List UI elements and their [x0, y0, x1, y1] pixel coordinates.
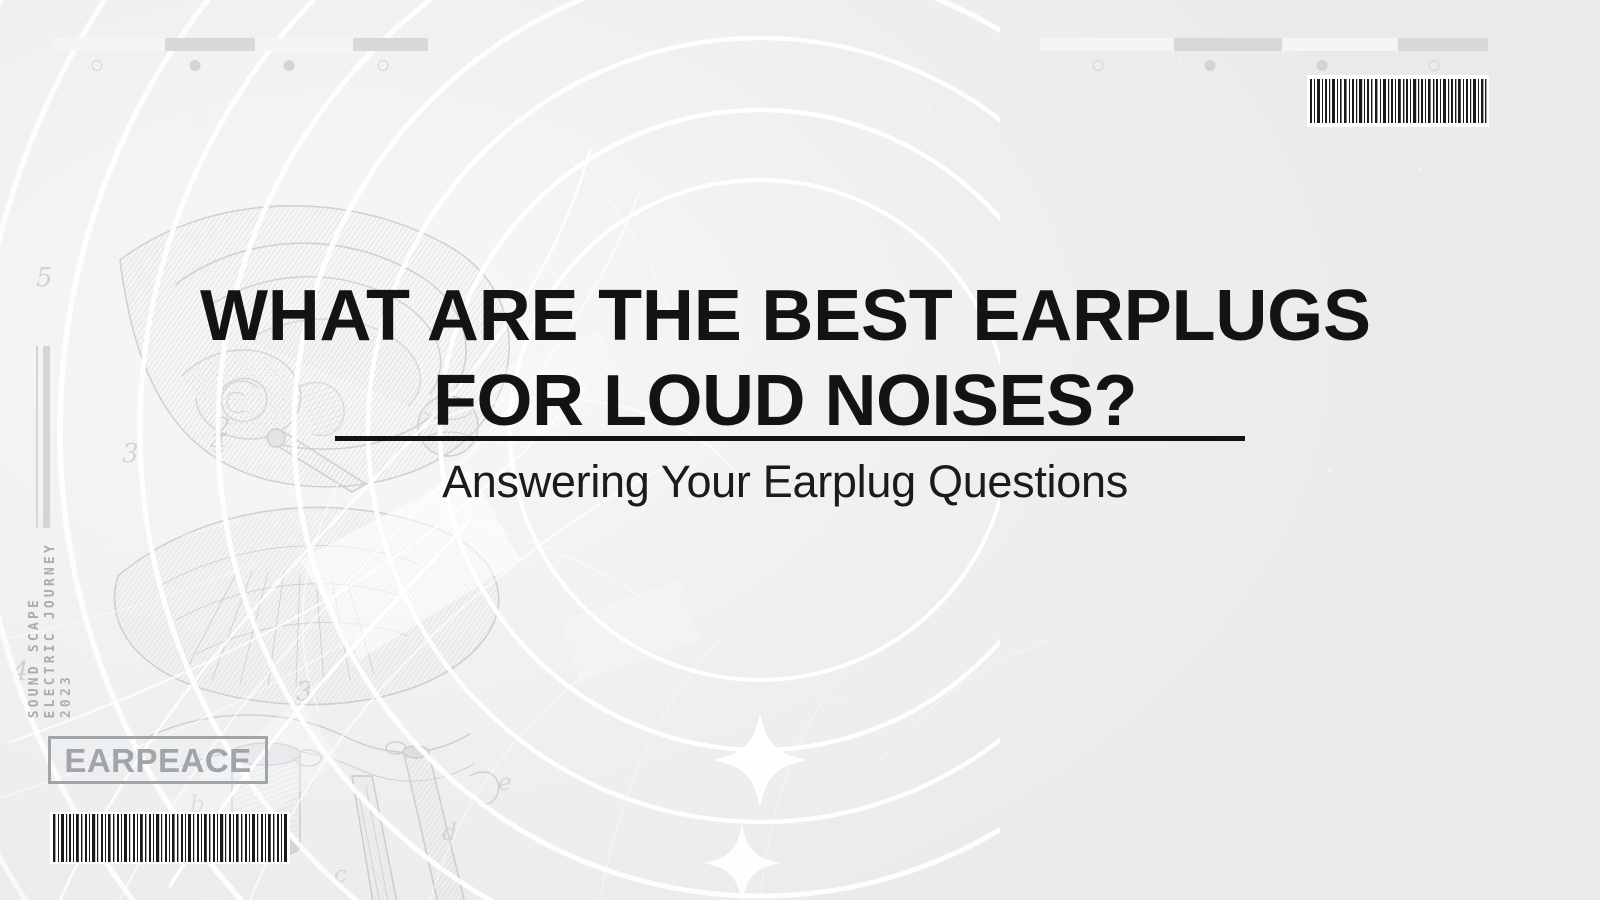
segbar-segment — [165, 38, 255, 51]
progress-bar-left — [52, 38, 428, 82]
page-title-line-1: WHAT ARE THE BEST EARPLUGS — [200, 282, 1370, 351]
segbar-dots-left — [52, 60, 428, 82]
vertical-label-group: SOUND SCAPE ELECTRIC JOURNEY 2023 — [28, 542, 73, 718]
vertical-label-electric-journey: ELECTRIC JOURNEY — [44, 542, 57, 718]
step-dot — [1093, 60, 1104, 71]
step-dot — [189, 60, 200, 71]
segbar-segment — [52, 38, 165, 51]
engraving-label-4b: 4 — [11, 657, 29, 687]
segbar-segment — [1040, 38, 1174, 51]
engraving-label-e: e — [498, 770, 512, 796]
engraving-label-c: c — [334, 862, 347, 888]
segbar-segment — [255, 38, 353, 51]
title-divider — [335, 436, 1245, 441]
segbar-segment — [353, 38, 428, 51]
ear-anatomy-engraving: 5 4 3 2 3 4 b c d e — [0, 140, 520, 900]
segbar-segment — [1398, 38, 1488, 51]
engraving-label-3: 3 — [122, 439, 139, 469]
brand-badge: EARPEACE — [48, 736, 268, 784]
barcode-icon-top-right — [1307, 75, 1489, 127]
engraving-label-d: d — [442, 820, 457, 846]
segbar-segment — [1282, 38, 1398, 51]
vertical-label-year: 2023 — [60, 674, 73, 718]
brand-wordmark: EARPEACE — [64, 744, 251, 777]
segbar-segment — [1174, 38, 1282, 51]
engraving-label-3b: 3 — [296, 677, 313, 707]
page-subtitle: Answering Your Earplug Questions — [200, 456, 1370, 508]
poster-canvas: 5 4 3 2 3 4 b c d e — [0, 0, 1600, 900]
headline-block: WHAT ARE THE BEST EARPLUGS FOR LOUD NOIS… — [0, 282, 1600, 436]
step-dot — [1429, 60, 1440, 71]
step-dot — [1317, 60, 1328, 71]
page-title-line-2: FOR LOUD NOISES? — [200, 367, 1370, 436]
barcode-icon-bottom-left — [50, 812, 290, 864]
step-dot — [377, 60, 388, 71]
step-dot — [1205, 60, 1216, 71]
segbar-track-left — [52, 38, 428, 51]
step-dot — [283, 60, 294, 71]
step-dot — [92, 60, 103, 71]
sparkle-icon — [703, 712, 808, 900]
segbar-track-right — [1040, 38, 1488, 51]
vertical-label-soundscape: SOUND SCAPE — [28, 597, 41, 718]
